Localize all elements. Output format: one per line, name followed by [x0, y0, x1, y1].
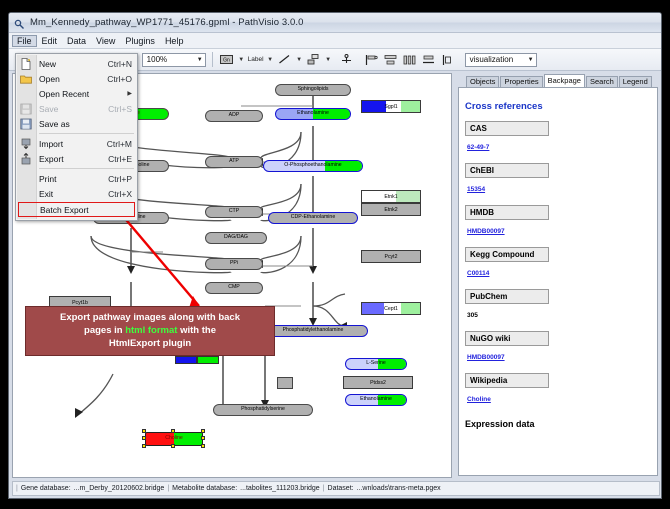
file-menu-batch-export[interactable]: Batch Export: [18, 202, 135, 217]
interaction-anchor[interactable]: [277, 377, 293, 389]
gene-etnk2[interactable]: Etnk2: [361, 203, 421, 216]
status-sep: |: [323, 485, 325, 492]
selected-node-wrapper: Choline: [145, 432, 203, 446]
new-file-icon: [20, 58, 32, 70]
chevron-down-icon: ▼: [528, 57, 534, 63]
zoom-value: 100%: [147, 55, 167, 64]
expression-data-title: Expression data: [465, 419, 647, 429]
visualization-value: visualization: [470, 55, 514, 64]
gene-etnk1[interactable]: Etnk1: [361, 190, 421, 203]
gene-product-icon[interactable]: Gn: [219, 52, 235, 68]
xref-value-nugo-wiki[interactable]: HMDB00097: [467, 354, 505, 361]
tab-legend[interactable]: Legend: [619, 76, 652, 87]
backpage-content: Cross references CAS 62-49-7 ChEBI 15354…: [458, 87, 658, 476]
resize-handle[interactable]: [171, 444, 175, 448]
status-sep: |: [16, 485, 18, 492]
side-panel: Objects Properties Backpage Search Legen…: [456, 73, 660, 478]
import-icon: [20, 138, 32, 150]
pathvisio-icon: [14, 17, 25, 28]
etnk1-fill-right: [396, 191, 420, 202]
xref-header-kegg-compound: Kegg Compound: [465, 247, 549, 262]
legend-color-blue: [175, 356, 197, 364]
chevron-right-icon: ▶: [127, 90, 132, 97]
anchor-icon[interactable]: [339, 52, 355, 68]
tab-search[interactable]: Search: [586, 76, 618, 87]
distribute-icon[interactable]: [402, 52, 418, 68]
panel-tabs: Objects Properties Backpage Search Legen…: [456, 73, 660, 87]
node-atp[interactable]: ATP: [205, 156, 263, 168]
node-ppi[interactable]: PPi: [205, 258, 263, 270]
resize-handle[interactable]: [201, 429, 205, 433]
toolbar-divider: [212, 52, 213, 67]
file-menu-open-label: Open: [39, 74, 60, 84]
callout-line-2: pages in html format with the: [32, 325, 268, 338]
resize-handle[interactable]: [171, 429, 175, 433]
file-menu-dropdown[interactable]: New Ctrl+N Open Ctrl+O Open Recent ▶: [15, 53, 138, 221]
xref-header-nugo-wiki: NuGO wiki: [465, 331, 549, 346]
file-menu-exit[interactable]: Exit Ctrl+X: [16, 186, 137, 201]
file-menu-new-label: New: [39, 59, 56, 69]
resize-handle[interactable]: [142, 444, 146, 448]
xref-value-chebi[interactable]: 15354: [467, 186, 485, 193]
menu-divider: [39, 168, 134, 169]
legend-color-green: [197, 356, 219, 364]
visualization-combo[interactable]: visualization ▼: [465, 53, 537, 67]
status-metabolite-db-label: Metabolite database:: [172, 485, 237, 492]
stack-icon[interactable]: [421, 52, 437, 68]
file-menu-new[interactable]: New Ctrl+N: [16, 56, 137, 71]
node-ctp[interactable]: CTP: [205, 206, 263, 218]
file-menu-import[interactable]: Import Ctrl+M: [16, 136, 137, 151]
sgpl1-fill-right: [401, 101, 420, 112]
file-menu-save: Save Ctrl+S: [16, 101, 137, 116]
node-l-serine[interactable]: L-Serine: [345, 358, 407, 370]
annotation-callout: Export pathway images along with back pa…: [25, 306, 275, 356]
xref-header-cas: CAS: [465, 121, 549, 136]
callout-line-3: HtmlExport plugin: [32, 338, 268, 351]
gene-ptdss2[interactable]: Ptdss2: [343, 376, 413, 389]
resize-handle[interactable]: [201, 444, 205, 448]
callout-line-1: Export pathway images along with back: [32, 312, 268, 325]
file-menu-save-as-label: Save as: [39, 119, 70, 129]
resize-handle[interactable]: [201, 436, 205, 440]
status-gene-db-label: Gene database:: [21, 485, 71, 492]
node-cmp[interactable]: CMP: [205, 282, 263, 294]
status-bar: | Gene database: ...m_Derby_20120602.bri…: [12, 481, 660, 496]
menu-plugins[interactable]: Plugins: [120, 35, 160, 47]
resize-handle[interactable]: [142, 429, 146, 433]
align-left-icon[interactable]: [364, 52, 380, 68]
title-bar: Mm_Kennedy_pathway_WP1771_45176.gpml - P…: [9, 13, 661, 33]
status-dataset-label: Dataset:: [328, 485, 354, 492]
svg-text:Gn: Gn: [223, 58, 230, 64]
menu-divider: [39, 133, 134, 134]
group-icon[interactable]: [440, 52, 456, 68]
cept1-fill-right: [401, 303, 420, 314]
line-dropdown-icon[interactable]: ▼: [296, 57, 303, 63]
xref-header-pubchem: PubChem: [465, 289, 549, 304]
status-metabolite-db-value: ...tabolites_111203.bridge: [240, 485, 320, 492]
save-disk-icon: [20, 103, 32, 115]
resize-handle[interactable]: [142, 436, 146, 440]
menu-edit[interactable]: Edit: [37, 35, 63, 47]
callout-highlight: html format: [125, 325, 177, 336]
file-menu-print-label: Print: [39, 174, 56, 184]
screen-root: Mm_Kennedy_pathway_WP1771_45176.gpml - P…: [0, 0, 670, 509]
file-menu-import-label: Import: [39, 139, 63, 149]
xref-header-hmdb: HMDB: [465, 205, 549, 220]
label-tool-label[interactable]: Label: [248, 56, 264, 63]
file-menu-batch-export-label: Batch Export: [40, 205, 89, 215]
chevron-down-icon: ▼: [197, 57, 203, 63]
xref-header-wikipedia: Wikipedia: [465, 373, 549, 388]
node-dag-dag[interactable]: DAG/DAG: [205, 232, 267, 244]
file-menu-open-accel: Ctrl+O: [107, 74, 132, 84]
xref-value-hmdb[interactable]: HMDB00097: [467, 228, 505, 235]
xref-value-kegg-compound[interactable]: C00114: [467, 270, 489, 277]
status-gene-db-value: ...m_Derby_20120602.bridge: [74, 485, 165, 492]
file-menu-save-accel: Ctrl+S: [108, 104, 132, 114]
node-phosphatidylserine[interactable]: Phosphatidylserine: [213, 404, 313, 416]
xref-value-pubchem: 305: [467, 312, 478, 319]
tab-objects[interactable]: Objects: [466, 76, 499, 87]
file-menu-new-accel: Ctrl+N: [108, 59, 132, 69]
file-menu-import-accel: Ctrl+M: [107, 139, 132, 149]
export-icon: [20, 153, 32, 165]
gene-sgpl1[interactable]: Sgpl1: [361, 100, 421, 113]
node-sphingolipids[interactable]: Sphingolipids: [275, 84, 351, 96]
status-sep: |: [167, 485, 169, 492]
cept1-fill-left: [362, 303, 384, 314]
gene-dropdown-icon[interactable]: ▼: [238, 57, 245, 63]
tab-properties[interactable]: Properties: [500, 76, 542, 87]
gene-cept1[interactable]: Cept1: [361, 302, 421, 315]
file-menu-exit-label: Exit: [39, 189, 53, 199]
line-icon[interactable]: [277, 52, 293, 68]
callout-line2-suffix: with the: [177, 325, 216, 336]
status-dataset-value: ...wnloads\trans-meta.pgex: [357, 485, 441, 492]
file-menu-export[interactable]: Export Ctrl+E: [16, 151, 137, 166]
file-menu-export-accel: Ctrl+E: [108, 154, 132, 164]
file-menu-print-accel: Ctrl+P: [108, 174, 132, 184]
node-ethanolamine-bottom[interactable]: Ethanolamine: [345, 394, 407, 406]
file-menu-open-recent-label: Open Recent: [39, 89, 89, 99]
menu-help[interactable]: Help: [160, 35, 189, 47]
menu-bar: File Edit Data View Plugins Help: [9, 33, 661, 49]
align-center-icon[interactable]: [383, 52, 399, 68]
file-menu-open[interactable]: Open Ctrl+O: [16, 71, 137, 86]
node-adp[interactable]: ADP: [205, 110, 263, 122]
file-menu-exit-accel: Ctrl+X: [108, 189, 132, 199]
xref-header-chebi: ChEBI: [465, 163, 549, 178]
menu-data[interactable]: Data: [62, 35, 91, 47]
label-dropdown-icon[interactable]: ▼: [267, 57, 274, 63]
node-ethanolamine-top[interactable]: Ethanolamine: [275, 108, 351, 120]
menu-view[interactable]: View: [91, 35, 120, 47]
shape-icon[interactable]: [306, 52, 322, 68]
application-window: Mm_Kennedy_pathway_WP1771_45176.gpml - P…: [8, 12, 662, 499]
shape-dropdown-icon[interactable]: ▼: [325, 57, 332, 63]
sgpl1-fill-left: [362, 101, 386, 112]
menu-file[interactable]: File: [12, 35, 37, 47]
node-o-phosphoethanolamine[interactable]: O-Phosphoethanolamine: [263, 160, 363, 172]
file-menu-print[interactable]: Print Ctrl+P: [16, 171, 137, 186]
node-cdp-ethanolamine[interactable]: CDP-Ethanolamine: [268, 212, 358, 224]
file-menu-export-label: Export: [39, 154, 64, 164]
gene-pcyt2[interactable]: Pcyt2: [361, 250, 421, 263]
callout-line2-prefix: pages in: [84, 325, 125, 336]
cross-references-title: Cross references: [465, 101, 647, 112]
xref-value-cas[interactable]: 62-49-7: [467, 144, 489, 151]
open-folder-icon: [20, 73, 32, 85]
file-menu-save-as[interactable]: Save as: [16, 116, 137, 131]
save-as-icon: [20, 118, 32, 130]
tab-backpage[interactable]: Backpage: [544, 74, 585, 87]
file-menu-save-label: Save: [39, 104, 58, 114]
window-title: Mm_Kennedy_pathway_WP1771_45176.gpml - P…: [30, 17, 304, 28]
zoom-combo[interactable]: 100% ▼: [142, 53, 206, 67]
xref-value-wikipedia[interactable]: Choline: [467, 396, 491, 403]
file-menu-open-recent[interactable]: Open Recent ▶: [16, 86, 137, 101]
